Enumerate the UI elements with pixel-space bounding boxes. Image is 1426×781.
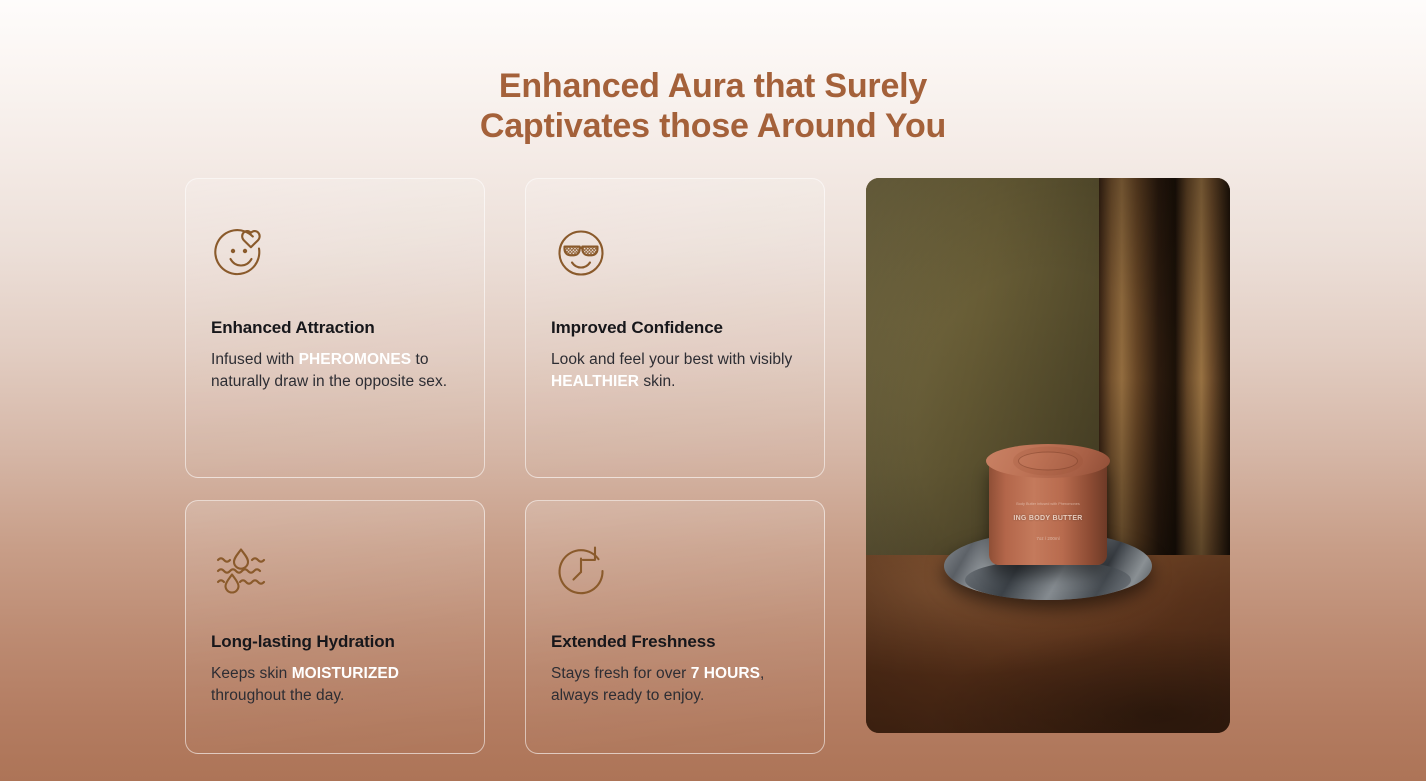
- feature-cards-grid: Enhanced Attraction Infused with PHEROMO…: [185, 178, 825, 754]
- jar-label: ING BODY BUTTER: [989, 515, 1107, 522]
- feature-card-description: Look and feel your best with visibly HEA…: [551, 349, 799, 393]
- desc-text-pre: Keeps skin: [211, 665, 292, 682]
- sunglasses-face-icon: [551, 223, 611, 283]
- feature-card-description: Keeps skin MOISTURIZED throughout the da…: [211, 663, 459, 707]
- clock-arrow-icon: [551, 541, 611, 601]
- page-title-line-1: Enhanced Aura that Surely: [0, 66, 1426, 106]
- feature-section: Enhanced Aura that Surely Captivates tho…: [0, 0, 1426, 781]
- feature-card-title: Improved Confidence: [551, 318, 799, 338]
- feature-card-title: Long-lasting Hydration: [211, 632, 459, 652]
- curtain-shadow: [1099, 178, 1230, 578]
- desc-highlight: HEALTHIER: [551, 373, 639, 390]
- feature-card-description: Stays fresh for over 7 HOURS, always rea…: [551, 663, 799, 707]
- desc-text-post: throughout the day.: [211, 687, 344, 704]
- jar-top-text: Body Butter infused with Pheromones: [989, 502, 1107, 506]
- feature-card-extended-freshness[interactable]: Extended Freshness Stays fresh for over …: [525, 500, 825, 754]
- desc-highlight: PHEROMONES: [299, 351, 411, 368]
- marble-tray-inner: [965, 560, 1131, 600]
- desc-text-post: skin.: [639, 373, 675, 390]
- desc-text-pre: Infused with: [211, 351, 299, 368]
- feature-card-long-lasting-hydration[interactable]: Long-lasting Hydration Keeps skin MOISTU…: [185, 500, 485, 754]
- feature-card-enhanced-attraction[interactable]: Enhanced Attraction Infused with PHEROMO…: [185, 178, 485, 478]
- desc-highlight: MOISTURIZED: [292, 665, 399, 682]
- product-image: Body Butter infused with Pheromones ING …: [866, 178, 1230, 733]
- jar-size-text: 7oz / 200ml: [989, 536, 1107, 541]
- page-title: Enhanced Aura that Surely Captivates tho…: [0, 66, 1426, 146]
- jar-lid: [986, 444, 1110, 478]
- water-droplet-waves-icon: [211, 541, 271, 601]
- feature-card-title: Enhanced Attraction: [211, 318, 459, 338]
- page-title-line-2: Captivates those Around You: [0, 106, 1426, 146]
- desc-highlight: 7 HOURS: [691, 665, 760, 682]
- smiley-heart-icon: [211, 223, 271, 283]
- content-area: Enhanced Attraction Infused with PHEROMO…: [185, 178, 1232, 754]
- desc-text-pre: Look and feel your best with visibly: [551, 351, 792, 368]
- feature-card-description: Infused with PHEROMONES to naturally dra…: [211, 349, 459, 393]
- desc-text-pre: Stays fresh for over: [551, 665, 691, 682]
- body-butter-jar: Body Butter infused with Pheromones ING …: [989, 460, 1107, 565]
- feature-card-title: Extended Freshness: [551, 632, 799, 652]
- feature-card-improved-confidence[interactable]: Improved Confidence Look and feel your b…: [525, 178, 825, 478]
